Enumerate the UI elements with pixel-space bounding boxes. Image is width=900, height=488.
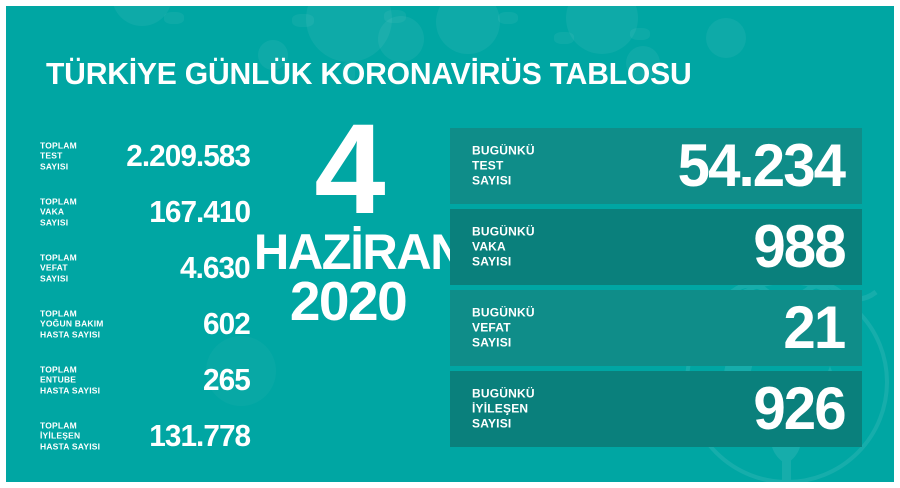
total-intubated-value: 265 bbox=[203, 364, 252, 395]
daily-case-label-line-3: SAYISI bbox=[472, 255, 511, 269]
daily-death-label-line-2: VEFAT bbox=[472, 321, 511, 335]
total-recovered-value: 131.778 bbox=[149, 420, 252, 451]
teal-panel: TÜRKİYE GÜNLÜK KORONAVİRÜS TABLOSU TOPLA… bbox=[6, 6, 894, 482]
infographic-poster: TÜRKİYE GÜNLÜK KORONAVİRÜS TABLOSU TOPLA… bbox=[0, 0, 900, 488]
daily-test-value: 54.234 bbox=[678, 136, 862, 196]
total-icu-label-line-2: YOĞUN BAKIM bbox=[40, 318, 104, 328]
daily-recovered-label: BUGÜNKÜ İYİLEŞEN SAYISI bbox=[472, 387, 535, 432]
total-case-label-line-2: VAKA bbox=[40, 206, 64, 216]
date-year: 2020 bbox=[252, 275, 444, 327]
daily-case-value: 988 bbox=[753, 217, 862, 277]
total-intubated-label: TOPLAM ENTUBE HASTA SAYISI bbox=[40, 364, 100, 396]
total-test-label: TOPLAM TEST SAYISI bbox=[40, 140, 77, 172]
total-death-label: TOPLAM VEFAT SAYISI bbox=[40, 252, 77, 284]
daily-test-label-line-2: TEST bbox=[472, 159, 503, 173]
total-case-stat: TOPLAM VAKA SAYISI 167.410 bbox=[34, 184, 252, 239]
total-recovered-label-line-2: İYİLEŞEN bbox=[40, 430, 80, 440]
total-death-stat: TOPLAM VEFAT SAYISI 4.630 bbox=[34, 240, 252, 295]
page-title: TÜRKİYE GÜNLÜK KORONAVİRÜS TABLOSU bbox=[46, 56, 691, 92]
total-case-label-line-3: SAYISI bbox=[40, 217, 68, 227]
daily-death-label-line-1: BUGÜNKÜ bbox=[472, 306, 535, 320]
daily-test-label-line-3: SAYISI bbox=[472, 174, 511, 188]
total-test-label-line-2: TEST bbox=[40, 150, 63, 160]
daily-case-label-line-1: BUGÜNKÜ bbox=[472, 225, 535, 239]
total-recovered-label-line-1: TOPLAM bbox=[40, 420, 77, 430]
daily-death-label: BUGÜNKÜ VEFAT SAYISI bbox=[472, 306, 535, 351]
total-test-label-line-3: SAYISI bbox=[40, 161, 68, 171]
daily-test-label: BUGÜNKÜ TEST SAYISI bbox=[472, 144, 535, 189]
daily-case-label-line-2: VAKA bbox=[472, 240, 506, 254]
total-case-label: TOPLAM VAKA SAYISI bbox=[40, 196, 77, 228]
daily-test-band: BUGÜNKÜ TEST SAYISI 54.234 bbox=[450, 128, 862, 204]
date-day: 4 bbox=[252, 118, 444, 223]
total-icu-label-line-1: TOPLAM bbox=[40, 308, 77, 318]
total-icu-value: 602 bbox=[203, 308, 252, 339]
total-case-label-line-1: TOPLAM bbox=[40, 196, 77, 206]
totals-column: TOPLAM TEST SAYISI 2.209.583 TOPLAM VAKA… bbox=[34, 128, 252, 464]
total-intubated-label-line-1: TOPLAM bbox=[40, 364, 77, 374]
daily-recovered-value: 926 bbox=[753, 379, 862, 439]
total-recovered-label-line-3: HASTA SAYISI bbox=[40, 441, 100, 451]
daily-recovered-label-line-2: İYİLEŞEN bbox=[472, 402, 528, 416]
total-death-label-line-3: SAYISI bbox=[40, 273, 68, 283]
daily-death-value: 21 bbox=[784, 298, 862, 358]
daily-recovered-band: BUGÜNKÜ İYİLEŞEN SAYISI 926 bbox=[450, 371, 862, 447]
total-icu-label-line-3: HASTA SAYISI bbox=[40, 329, 100, 339]
total-test-label-line-1: TOPLAM bbox=[40, 140, 77, 150]
daily-recovered-label-line-3: SAYISI bbox=[472, 417, 511, 431]
date-block: 4 HAZİRAN 2020 bbox=[252, 118, 444, 327]
total-case-value: 167.410 bbox=[149, 196, 252, 227]
total-test-value: 2.209.583 bbox=[126, 140, 252, 171]
daily-recovered-label-line-1: BUGÜNKÜ bbox=[472, 387, 535, 401]
total-death-label-line-1: TOPLAM bbox=[40, 252, 77, 262]
total-recovered-label: TOPLAM İYİLEŞEN HASTA SAYISI bbox=[40, 420, 100, 452]
total-intubated-stat: TOPLAM ENTUBE HASTA SAYISI 265 bbox=[34, 352, 252, 407]
total-recovered-stat: TOPLAM İYİLEŞEN HASTA SAYISI 131.778 bbox=[34, 408, 252, 463]
total-death-value: 4.630 bbox=[180, 252, 252, 283]
total-test-stat: TOPLAM TEST SAYISI 2.209.583 bbox=[34, 128, 252, 183]
total-icu-stat: TOPLAM YOĞUN BAKIM HASTA SAYISI 602 bbox=[34, 296, 252, 351]
total-intubated-label-line-2: ENTUBE bbox=[40, 374, 76, 384]
total-death-label-line-2: VEFAT bbox=[40, 262, 68, 272]
daily-test-label-line-1: BUGÜNKÜ bbox=[472, 144, 535, 158]
daily-case-band: BUGÜNKÜ VAKA SAYISI 988 bbox=[450, 209, 862, 285]
daily-death-band: BUGÜNKÜ VEFAT SAYISI 21 bbox=[450, 290, 862, 366]
total-icu-label: TOPLAM YOĞUN BAKIM HASTA SAYISI bbox=[40, 308, 104, 340]
daily-column: BUGÜNKÜ TEST SAYISI 54.234 BUGÜNKÜ VAKA … bbox=[450, 128, 862, 452]
daily-death-label-line-3: SAYISI bbox=[472, 336, 511, 350]
date-month: HAZİRAN bbox=[254, 229, 442, 275]
total-intubated-label-line-3: HASTA SAYISI bbox=[40, 385, 100, 395]
daily-case-label: BUGÜNKÜ VAKA SAYISI bbox=[472, 225, 535, 270]
